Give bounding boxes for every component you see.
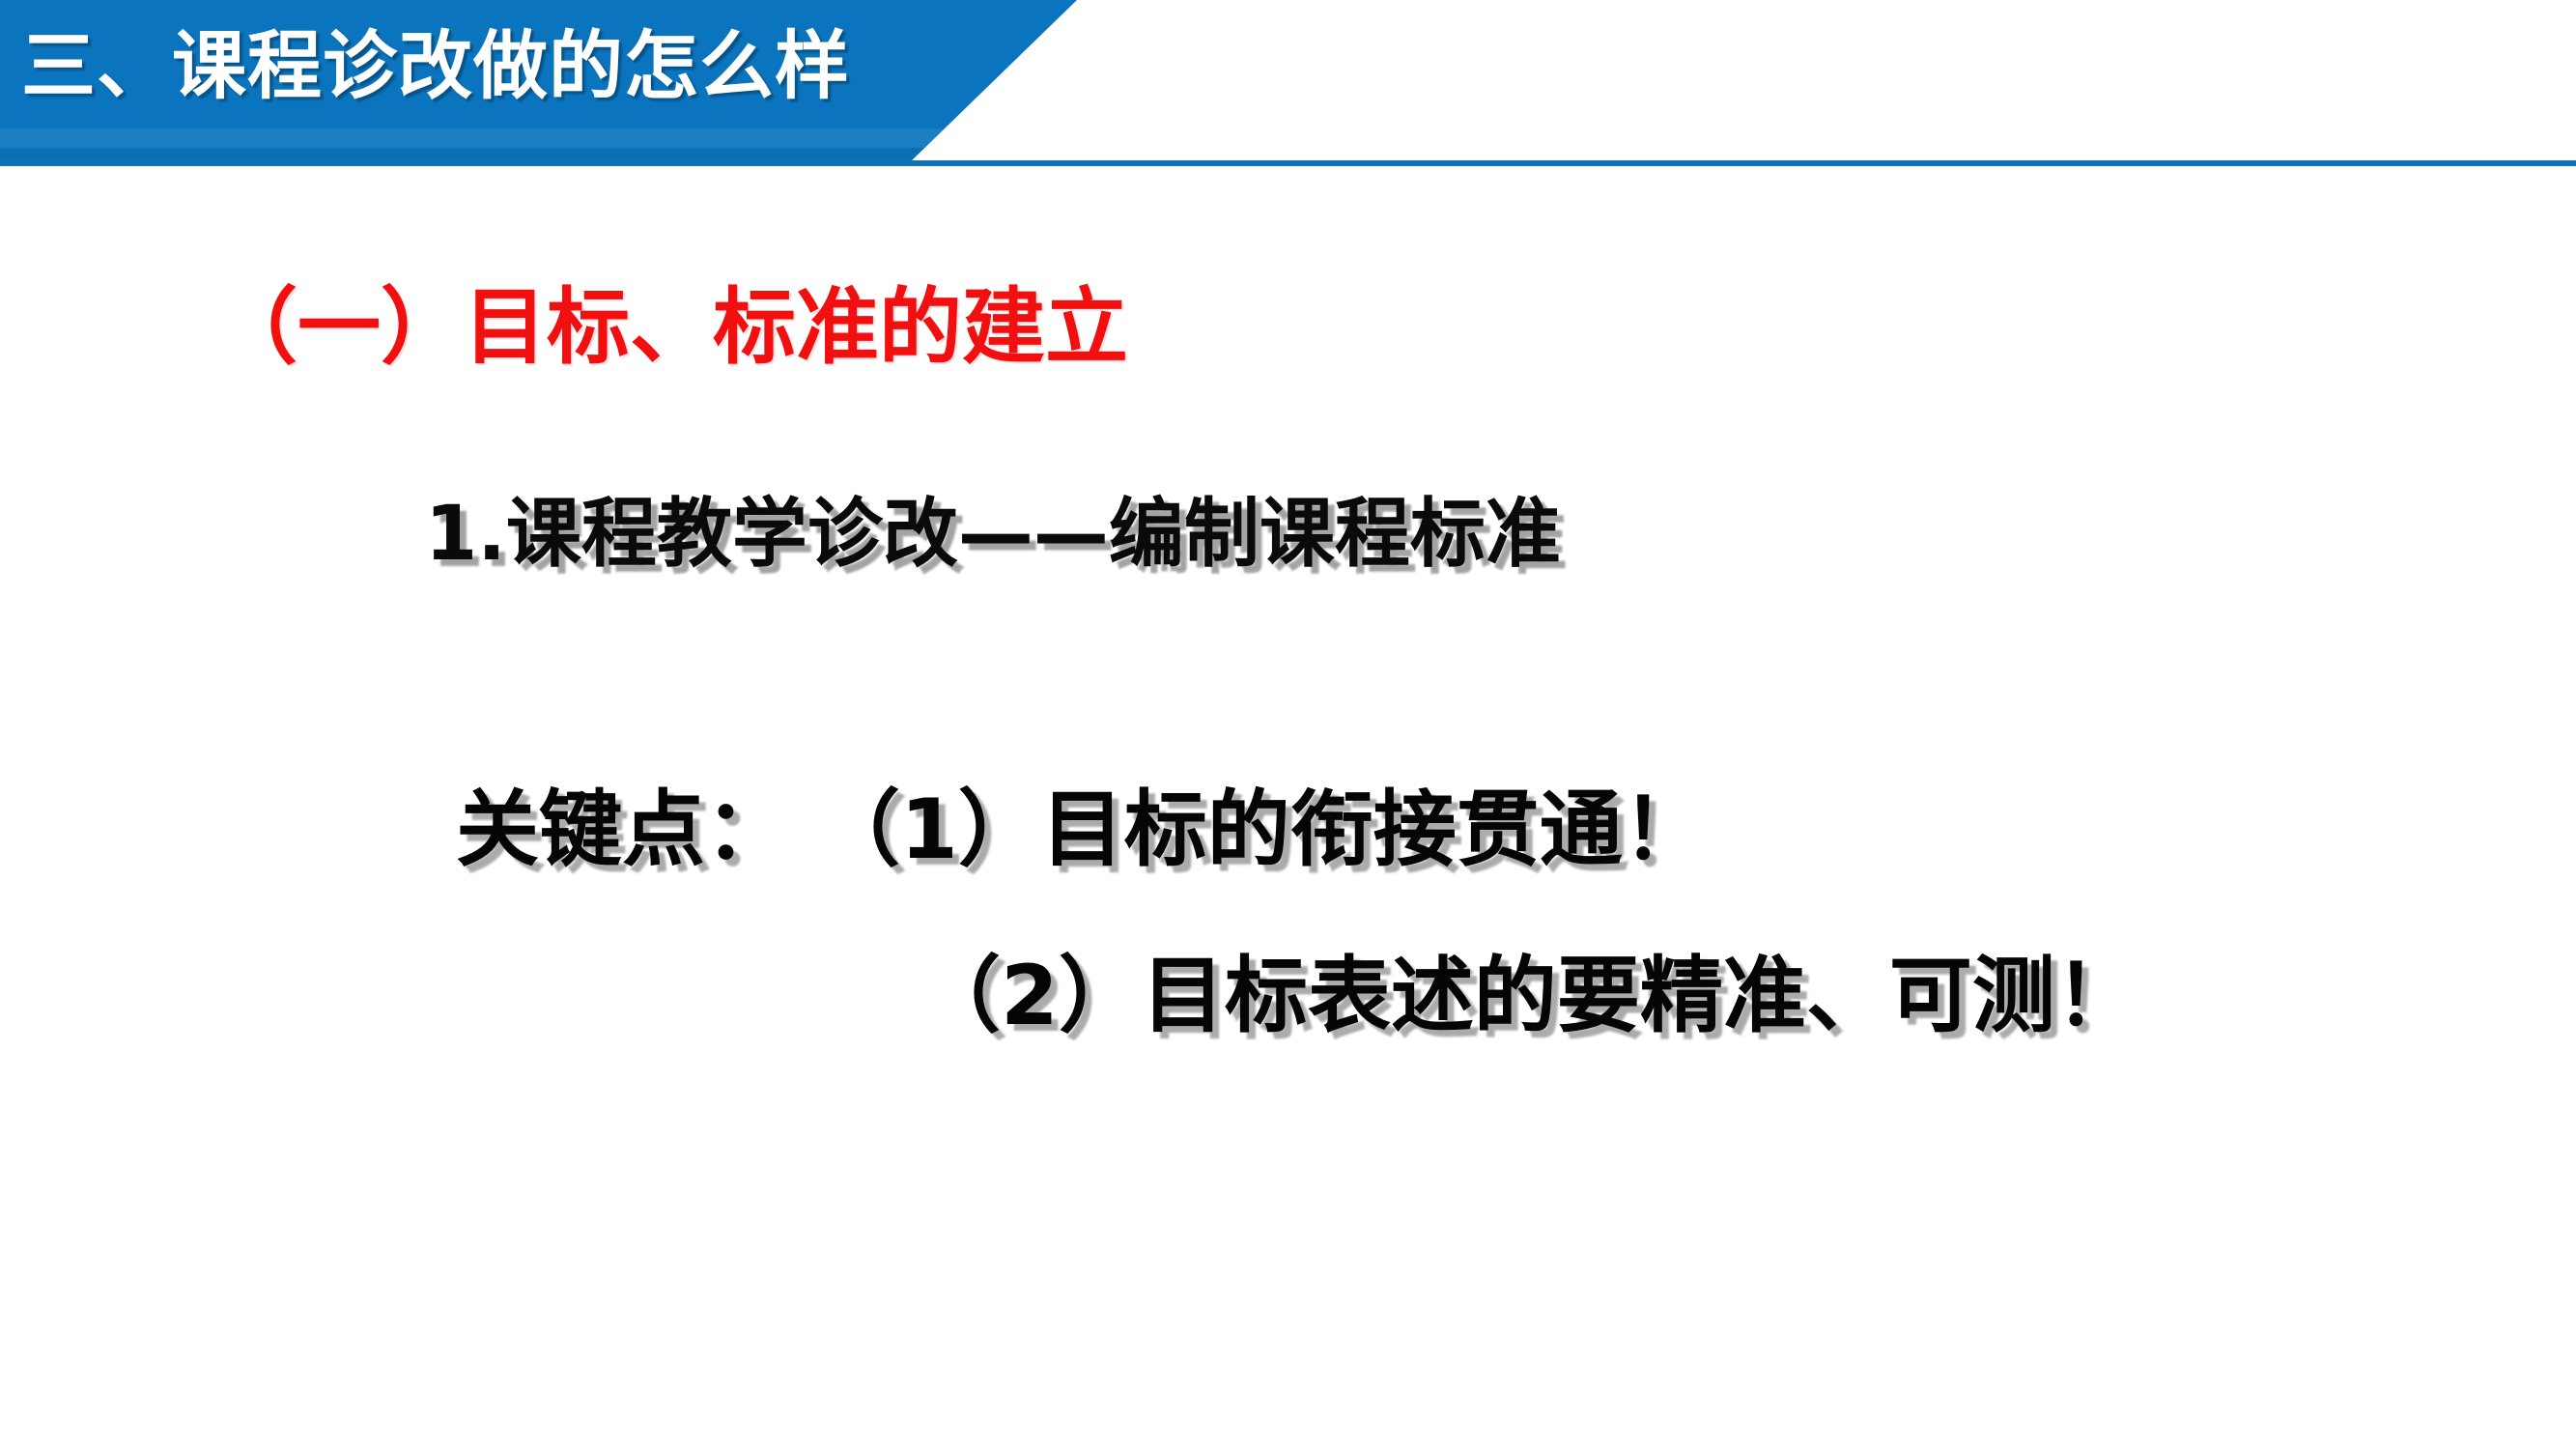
header-title: 三、课程诊改做的怎么样 <box>21 14 987 122</box>
section-heading: （一）目标、标准的建立 <box>214 259 1128 380</box>
key-point-1: 关键点： （1）目标的衔接贯通！ <box>456 761 1706 882</box>
slide-canvas: 三、课程诊改做的怎么样 （一）目标、标准的建立 1.课程教学诊改——编制课程标准… <box>0 0 2576 1450</box>
slide-body: （一）目标、标准的建立 1.课程教学诊改——编制课程标准 关键点： （1）目标的… <box>0 166 2576 1450</box>
section-subheading: 1.课程教学诊改——编制课程标准 <box>425 473 1561 582</box>
key-point-2: （2）目标表述的要精准、可测！ <box>918 927 2138 1048</box>
